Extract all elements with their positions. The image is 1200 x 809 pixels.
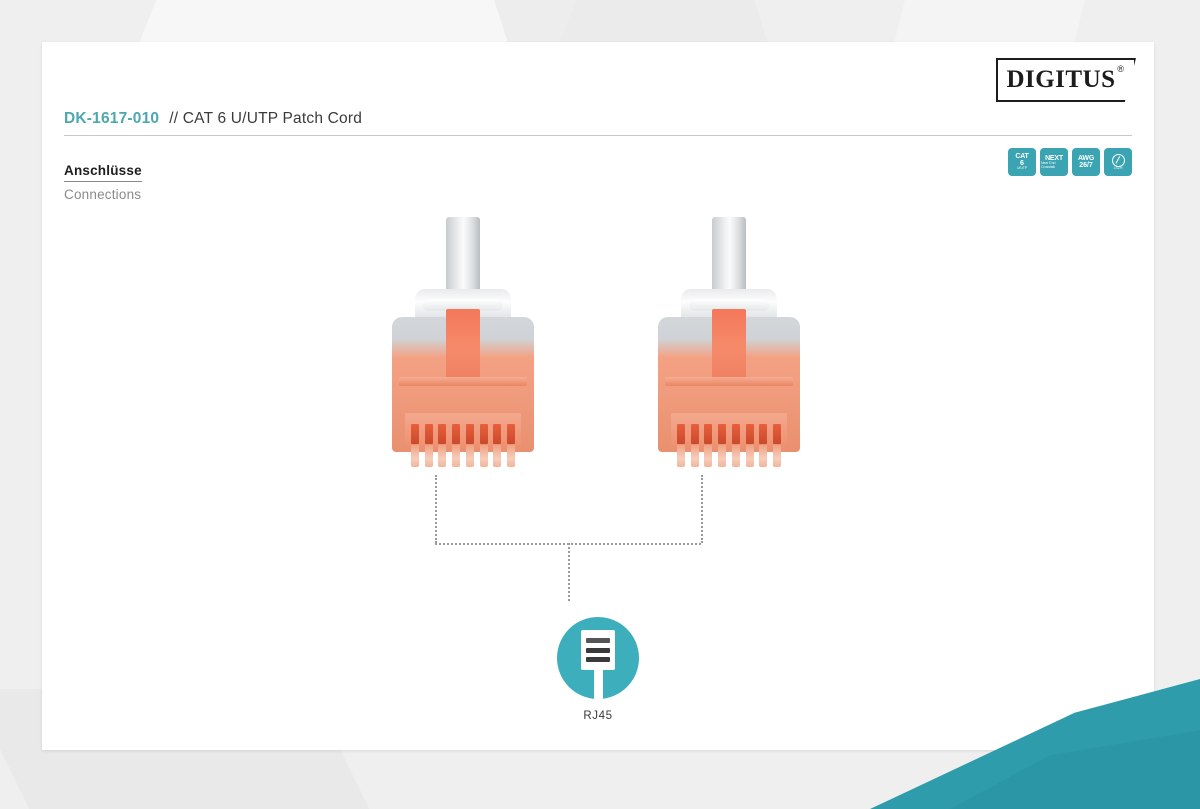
contact-tooth	[677, 445, 685, 467]
contact-tooth	[759, 445, 767, 467]
cat6-badge: CAT 6 U/UTP	[1008, 148, 1036, 176]
callout-line-left-vertical	[435, 475, 437, 543]
contact-pin	[411, 424, 419, 444]
registered-trademark-icon: ®	[1117, 64, 1124, 74]
contact-teeth-left	[407, 445, 519, 467]
contact-pin	[452, 424, 460, 444]
contact-pin	[718, 424, 726, 444]
rj45-callout: RJ45	[557, 617, 639, 722]
next-badge: NEXT Near End Crosstalk	[1040, 148, 1068, 176]
contact-pin	[704, 424, 712, 444]
rj45-connector-left	[388, 217, 538, 487]
contact-pin	[438, 424, 446, 444]
certification-badges: CAT 6 U/UTP NEXT Near End Crosstalk AWG …	[1008, 148, 1132, 176]
section-headings: Anschlüsse Connections	[64, 162, 142, 202]
contact-tooth	[691, 445, 699, 467]
contact-pin	[466, 424, 474, 444]
contact-tooth	[773, 445, 781, 467]
contact-pin	[480, 424, 488, 444]
contact-tooth	[480, 445, 488, 467]
next-badge-line3: Near End Crosstalk	[1041, 162, 1067, 169]
digitus-logo: DIGITUS ®	[996, 58, 1136, 102]
lszh-badge: LSZH	[1104, 148, 1132, 176]
contact-pin	[759, 424, 767, 444]
logo-text: DIGITUS	[996, 66, 1126, 94]
contact-pin	[493, 424, 501, 444]
contact-tooth	[411, 445, 419, 467]
contact-pin	[691, 424, 699, 444]
section-heading-de: Anschlüsse	[64, 163, 142, 182]
contact-tooth	[718, 445, 726, 467]
product-sku: DK-1617-010	[64, 110, 159, 128]
plug-ridge-right	[665, 377, 793, 386]
awg-badge-line2: 26/7	[1079, 162, 1093, 169]
callout-line-center-vertical	[568, 543, 570, 601]
contact-tooth	[507, 445, 515, 467]
product-illustration: RJ45	[42, 217, 1154, 737]
product-title: // CAT 6 U/UTP Patch Cord	[169, 110, 362, 128]
callout-line-right-vertical	[701, 475, 703, 543]
plug-ridge-left	[399, 377, 527, 386]
awg-badge: AWG 26/7	[1072, 148, 1100, 176]
rj45-icon-bar	[586, 648, 610, 653]
contact-tooth	[704, 445, 712, 467]
section-heading-en: Connections	[64, 187, 142, 202]
rj45-plug-icon	[581, 630, 615, 699]
rj45-icon-body	[581, 630, 615, 670]
datasheet-panel: DIGITUS ® DK-1617-010 // CAT 6 U/UTP Pat…	[42, 42, 1154, 750]
no-smoke-icon	[1112, 154, 1125, 167]
cat6-badge-line3: U/UTP	[1017, 167, 1027, 171]
rj45-label: RJ45	[583, 710, 612, 722]
contact-pin	[425, 424, 433, 444]
latch-tab-left	[446, 309, 480, 381]
contact-pin	[507, 424, 515, 444]
contact-window-left	[405, 413, 521, 447]
rj45-icon-cable	[594, 670, 603, 699]
contact-pin	[677, 424, 685, 444]
header-divider	[64, 135, 1132, 136]
contact-tooth	[438, 445, 446, 467]
rj45-connector-right	[654, 217, 804, 487]
contact-pin	[732, 424, 740, 444]
header: DK-1617-010 // CAT 6 U/UTP Patch Cord	[64, 110, 1132, 136]
page-canvas: DIGITUS ® DK-1617-010 // CAT 6 U/UTP Pat…	[0, 0, 1200, 809]
cat6-badge-line1: CAT	[1015, 153, 1028, 160]
lszh-badge-line3: LSZH	[1114, 167, 1123, 171]
cable-jacket-right	[712, 217, 746, 297]
cable-jacket-left	[446, 217, 480, 297]
contact-tooth	[732, 445, 740, 467]
contact-window-right	[671, 413, 787, 447]
rj45-badge-circle	[557, 617, 639, 699]
contact-pin	[773, 424, 781, 444]
contact-tooth	[425, 445, 433, 467]
header-row: DK-1617-010 // CAT 6 U/UTP Patch Cord	[64, 110, 1132, 135]
contact-tooth	[466, 445, 474, 467]
contact-tooth	[452, 445, 460, 467]
contact-pin	[746, 424, 754, 444]
awg-badge-line1: AWG	[1078, 155, 1094, 162]
rj45-icon-bar	[586, 638, 610, 643]
rj45-icon-bar	[586, 657, 610, 662]
contact-teeth-right	[673, 445, 785, 467]
contact-tooth	[493, 445, 501, 467]
latch-tab-right	[712, 309, 746, 381]
contact-tooth	[746, 445, 754, 467]
